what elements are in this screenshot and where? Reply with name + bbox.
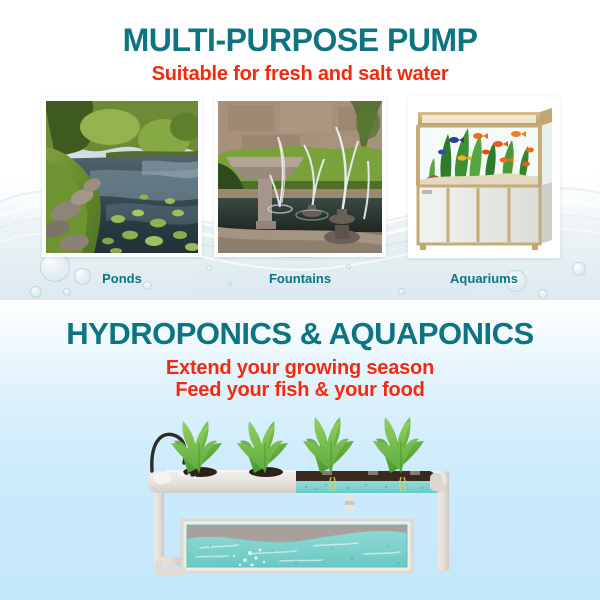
caption-aquariums: Aquariums xyxy=(408,271,560,286)
card-ponds[interactable] xyxy=(42,97,202,257)
subtitle-hydroponics-line-1: Extend your growing season xyxy=(166,357,434,379)
subtitle-hydroponics-line-2: Feed your fish & your food xyxy=(175,379,424,401)
fountain-photo xyxy=(218,101,382,253)
card-aquariums[interactable] xyxy=(408,96,560,258)
pond-photo xyxy=(46,101,198,253)
hydroponics-system-diagram xyxy=(100,415,520,600)
lettuce-plant xyxy=(171,421,222,473)
page-title-hydroponics: HYDROPONICS & AQUAPONICS xyxy=(0,318,600,349)
page-title-pump: MULTI-PURPOSE PUMP xyxy=(0,24,600,56)
aquarium-photo xyxy=(412,100,556,254)
product-infographic-poster: Ponds Fountains Aquariums xyxy=(0,0,600,600)
caption-fountains: Fountains xyxy=(214,271,386,286)
subtitle-hydroponics: Extend your growing season Feed your fis… xyxy=(0,357,600,402)
subtitle-pump: Suitable for fresh and salt water xyxy=(0,63,600,85)
lettuce-plant xyxy=(237,421,288,473)
card-fountains[interactable] xyxy=(214,97,386,257)
caption-ponds: Ponds xyxy=(42,271,202,286)
